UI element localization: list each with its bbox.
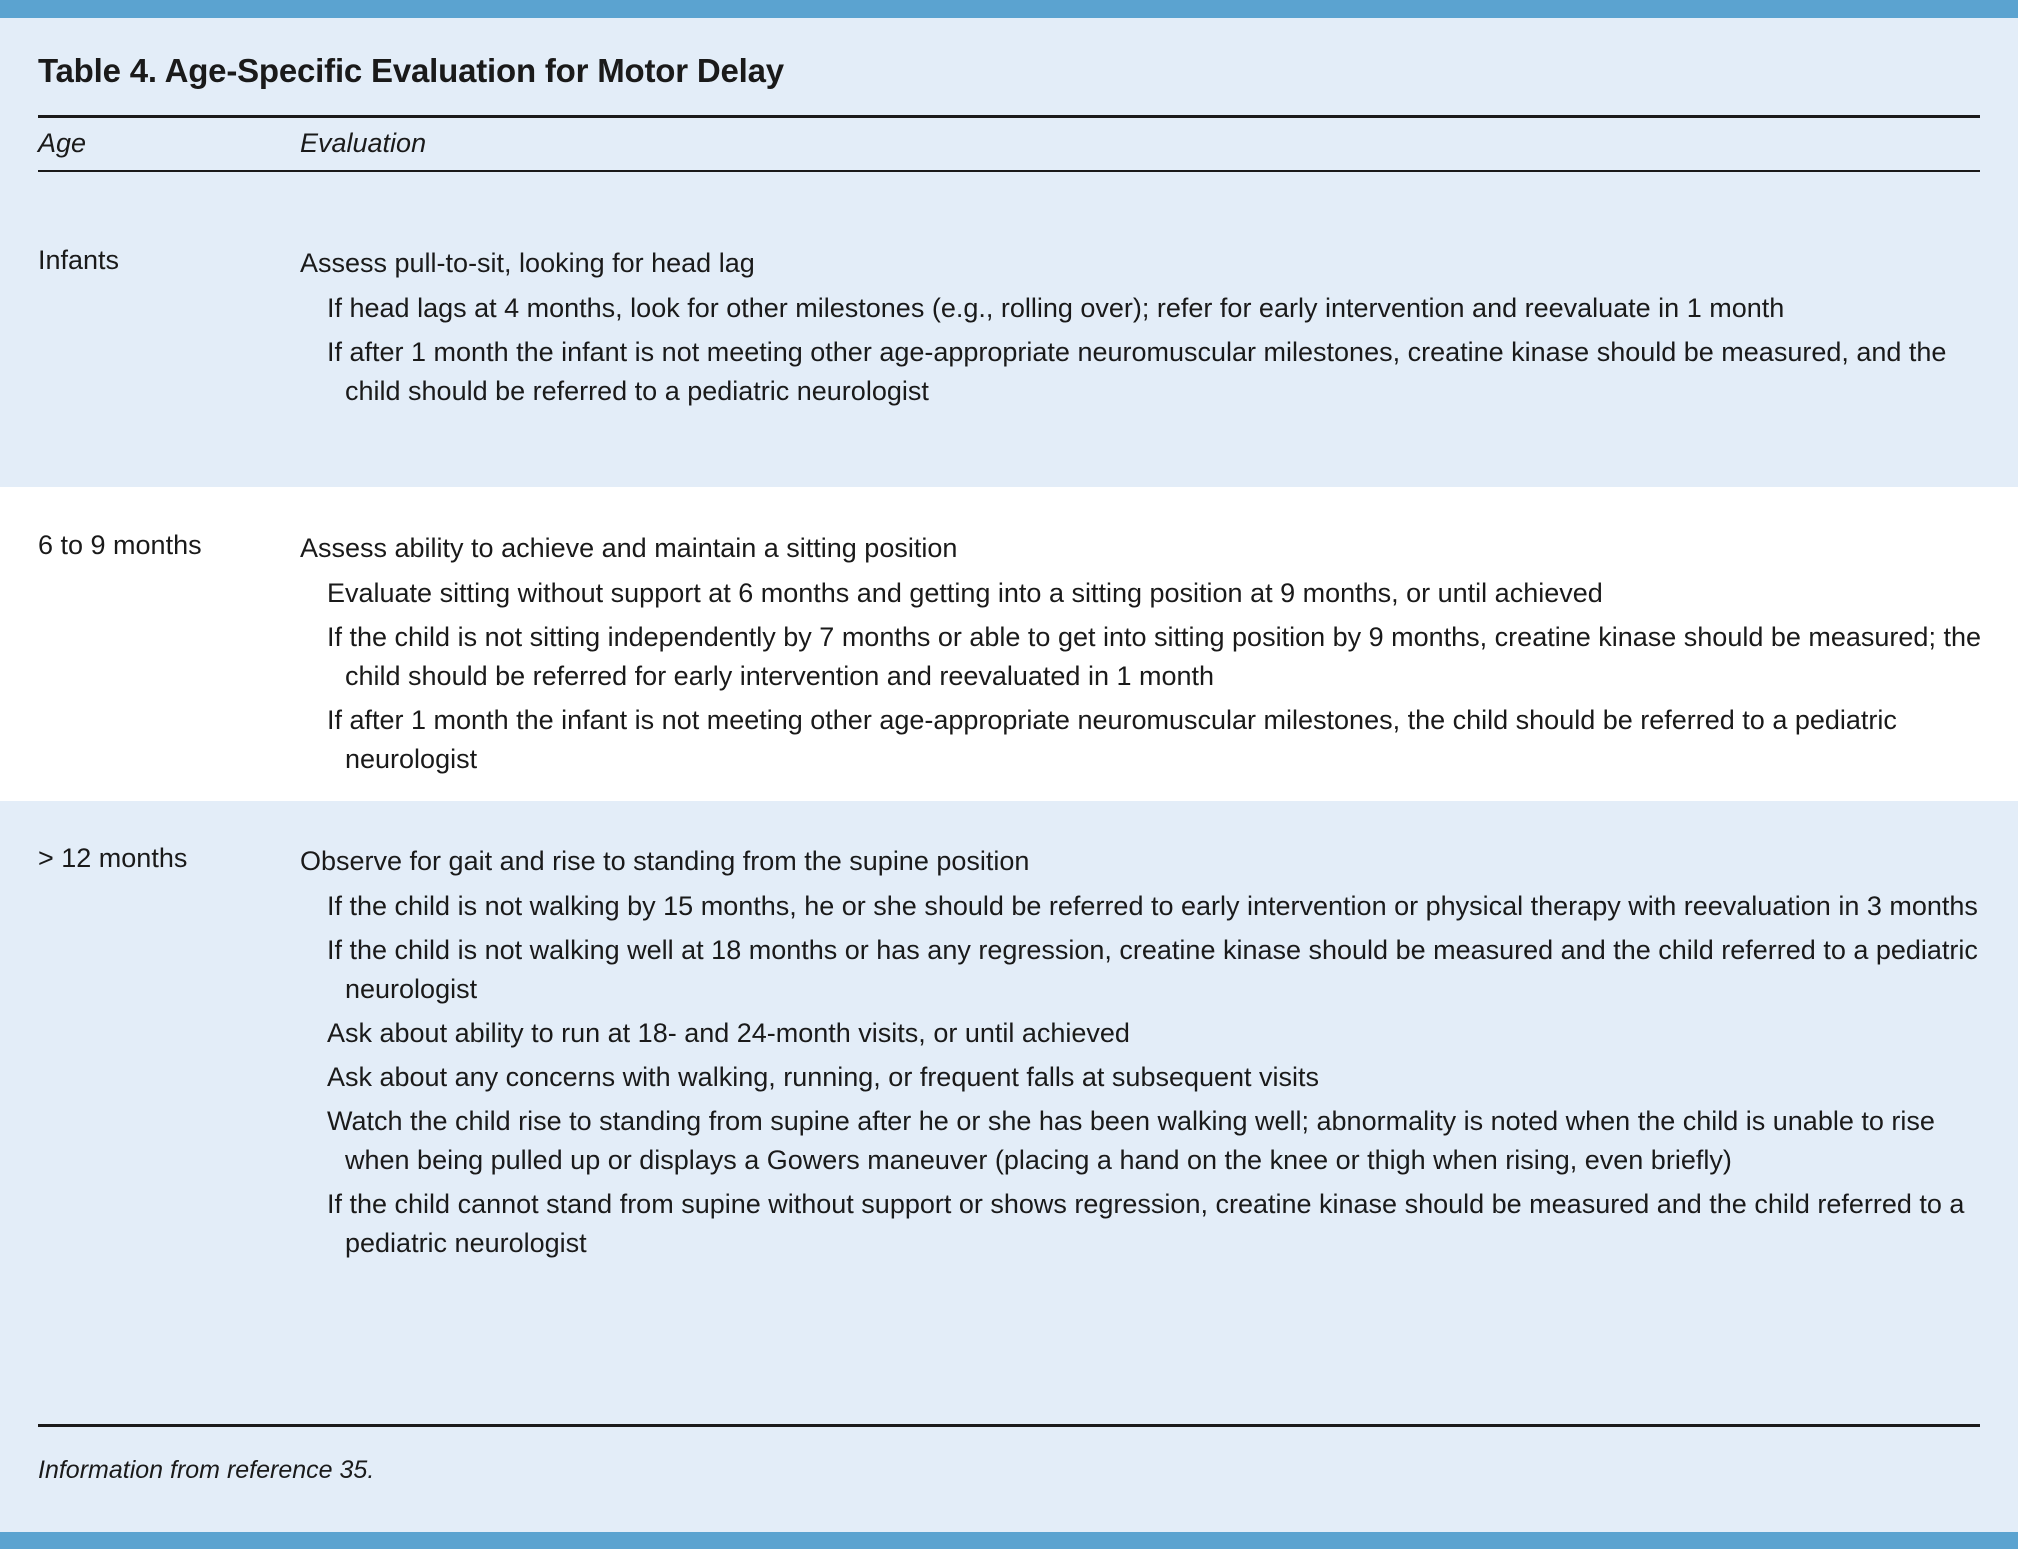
evaluation-lead: Observe for gait and rise to standing fr… [300,842,1990,881]
rule-under-title [38,115,1980,118]
evaluation-item: Ask about any concerns with walking, run… [300,1058,1990,1097]
evaluation-item: If head lags at 4 months, look for other… [300,289,1990,328]
evaluation-cell-6-to-9-months: Assess ability to achieve and maintain a… [300,529,1990,784]
evaluation-item: Ask about ability to run at 18- and 24-m… [300,1014,1990,1053]
rule-above-footnote [38,1424,1980,1427]
column-header-age: Age [38,128,86,159]
evaluation-item-text: If the child is not walking by 15 months… [327,887,1990,926]
evaluation-item: If the child cannot stand from supine wi… [300,1185,1990,1263]
evaluation-item-text: Ask about ability to run at 18- and 24-m… [327,1014,1990,1053]
table-title: Table 4. Age-Specific Evaluation for Mot… [38,52,784,90]
evaluation-item-text: Evaluate sitting without support at 6 mo… [327,574,1990,613]
evaluation-lead: Assess pull-to-sit, looking for head lag [300,244,1990,283]
age-cell-6-to-9-months: 6 to 9 months [38,530,202,561]
evaluation-item-text: If the child is not sitting independentl… [327,618,1990,696]
evaluation-cell-infants: Assess pull-to-sit, looking for head lag… [300,244,1990,416]
source-footnote: Information from reference 35. [38,1456,374,1485]
evaluation-item-text: If head lags at 4 months, look for other… [327,289,1990,328]
column-header-evaluation: Evaluation [300,128,426,159]
bottom-accent-bar [0,1532,2018,1549]
age-cell-over-12-months: > 12 months [38,843,187,874]
evaluation-item-text: If after 1 month the infant is not meeti… [327,333,1990,411]
evaluation-item: Evaluate sitting without support at 6 mo… [300,574,1990,613]
evaluation-item-text: If the child is not walking well at 18 m… [327,931,1990,1009]
evaluation-item: If the child is not walking well at 18 m… [300,931,1990,1009]
evaluation-item: If after 1 month the infant is not meeti… [300,701,1990,779]
evaluation-item-text: Watch the child rise to standing from su… [327,1102,1990,1180]
table-content: Table 4. Age-Specific Evaluation for Mot… [0,18,2018,1532]
evaluation-item-text: If the child cannot stand from supine wi… [327,1185,1990,1263]
evaluation-lead: Assess ability to achieve and maintain a… [300,529,1990,568]
evaluation-item-text: Ask about any concerns with walking, run… [327,1058,1990,1097]
evaluation-item: Watch the child rise to standing from su… [300,1102,1990,1180]
table-figure: Table 4. Age-Specific Evaluation for Mot… [0,0,2018,1549]
evaluation-item: If the child is not walking by 15 months… [300,887,1990,926]
top-accent-bar [0,0,2018,18]
rule-under-column-headers [38,170,1980,172]
evaluation-cell-over-12-months: Observe for gait and rise to standing fr… [300,842,1990,1268]
evaluation-item: If the child is not sitting independentl… [300,618,1990,696]
evaluation-item-text: If after 1 month the infant is not meeti… [327,701,1990,779]
evaluation-item: If after 1 month the infant is not meeti… [300,333,1990,411]
age-cell-infants: Infants [38,245,119,276]
